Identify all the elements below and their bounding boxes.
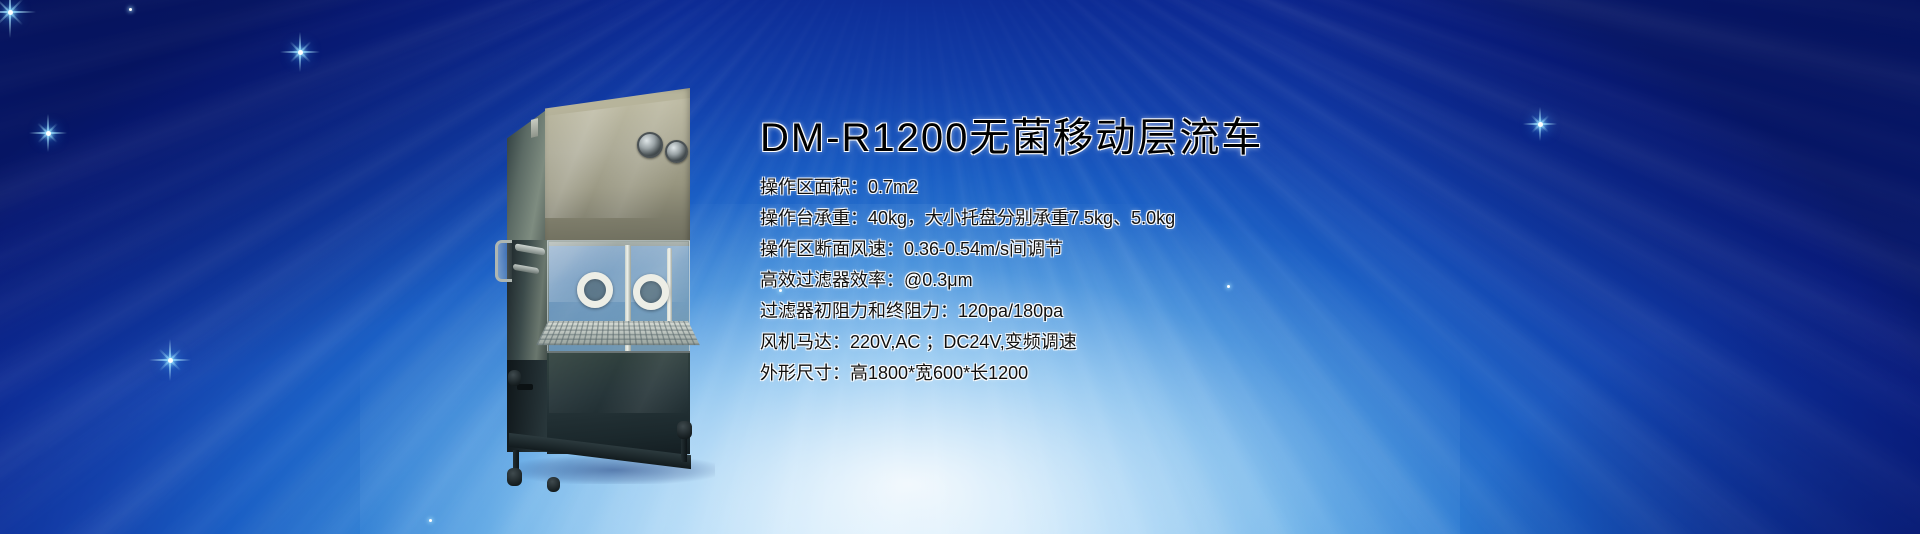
- product-spec-list: 操作区面积：0.7m2操作台承重：40kg，大小托盘分别承重7.5kg、5.0k…: [760, 172, 1320, 389]
- pressure-gauge-icon-1: [637, 132, 663, 158]
- pressure-gauge-icon-2: [665, 140, 688, 163]
- caster-wheel-rear-left: [508, 370, 521, 386]
- spec-line: 操作台承重：40kg，大小托盘分别承重7.5kg、5.0kg: [760, 203, 1320, 234]
- caster-wheel-front-left: [507, 468, 522, 486]
- spec-line: 操作区面积：0.7m2: [760, 172, 1320, 203]
- spec-line: 风机马达：220V,AC ；DC24V,变频调速: [760, 327, 1320, 358]
- caster-wheel-front-right: [677, 421, 692, 439]
- cart-leg-right: [681, 438, 687, 462]
- cart-side-handle: [495, 240, 512, 282]
- glove-port-right: [633, 274, 669, 310]
- cart-hood-side-panel: [507, 108, 549, 246]
- cart-hood-strip: [531, 118, 538, 138]
- spec-line: 高效过滤器效率：@0.3μm: [760, 265, 1320, 296]
- cart-cabinet-latch: [517, 384, 533, 390]
- spec-line: 过滤器初阻力和终阻力：120pa/180pa: [760, 296, 1320, 327]
- spec-line: 外形尺寸：高1800*宽600*长1200: [760, 358, 1320, 389]
- glove-port-left: [577, 272, 613, 308]
- cart-perforated-worktop: [536, 321, 700, 345]
- spec-line: 操作区断面风速：0.36-0.54m/s间调节: [760, 234, 1320, 265]
- product-image-laminar-flow-cart: [485, 88, 750, 480]
- cart-cabinet-reflection: [549, 353, 688, 413]
- caster-wheel-rear-right: [547, 477, 560, 492]
- page-title: DM-R1200无菌移动层流车: [760, 114, 1263, 162]
- product-banner: DM-R1200无菌移动层流车 操作区面积：0.7m2操作台承重：40kg，大小…: [0, 0, 1920, 534]
